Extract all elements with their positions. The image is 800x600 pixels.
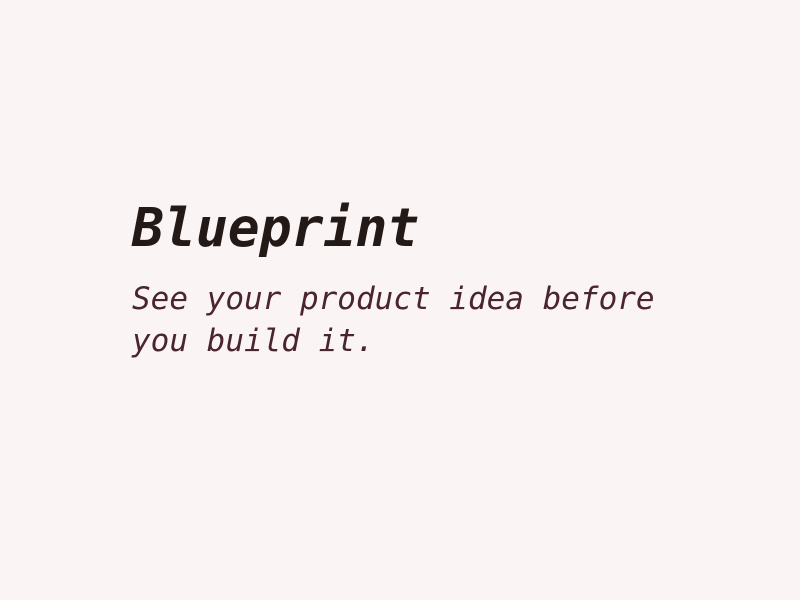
page-subtitle: See your product idea before you build i… [132, 256, 672, 362]
page-title: Blueprint [132, 202, 732, 256]
hero-text-block: Blueprint See your product idea before y… [132, 202, 732, 362]
title-slide: Blueprint See your product idea before y… [0, 0, 800, 600]
